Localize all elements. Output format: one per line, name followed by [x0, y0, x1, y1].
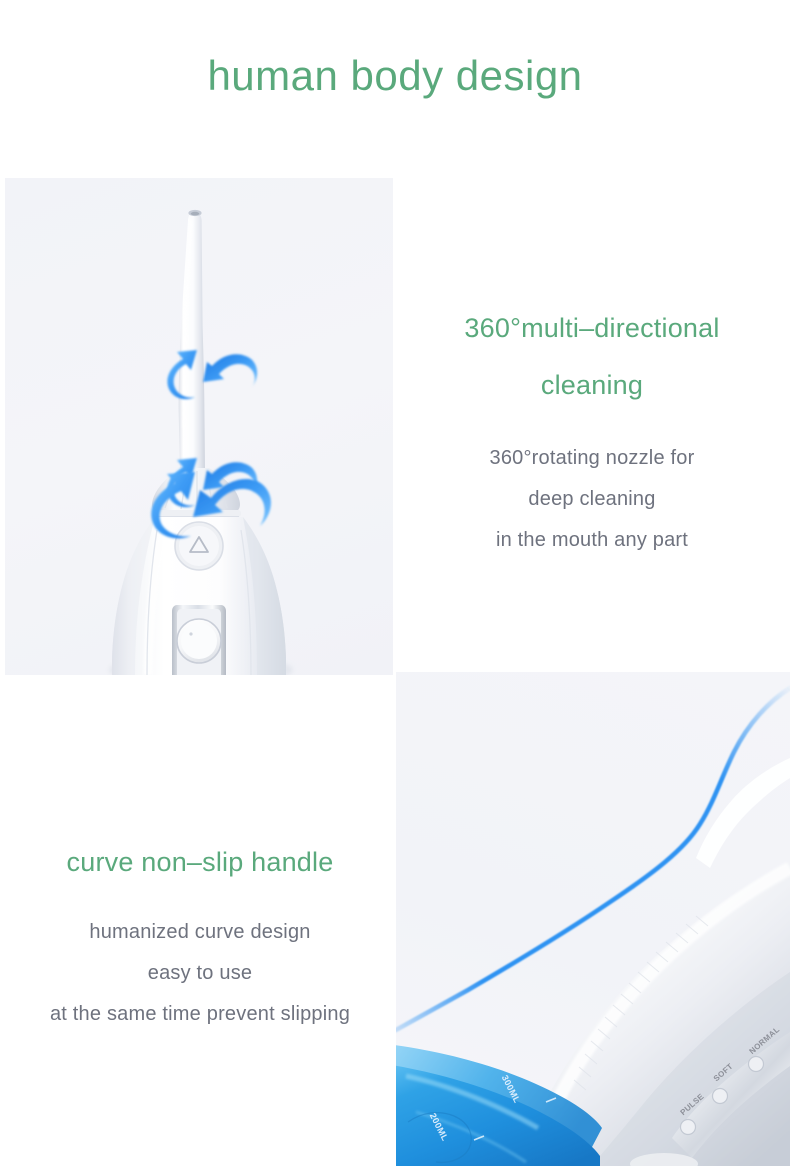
body-line: easy to use [6, 953, 394, 994]
page-title: human body design [0, 52, 790, 100]
body-line: in the mouth any part [398, 520, 786, 561]
mode-button-normal [749, 1057, 764, 1072]
product-feature-page: human body design [0, 0, 790, 1166]
feature-heading-360: 360°multi–directional cleaning [398, 300, 786, 414]
heading-line: cleaning [398, 357, 786, 414]
mode-button-pulse [681, 1120, 696, 1135]
feature-body-handle: humanized curve design easy to use at th… [6, 912, 394, 1035]
heading-line: 360°multi–directional [398, 300, 786, 357]
body-line: 360°rotating nozzle for [398, 438, 786, 479]
curved-handle-illustration [396, 672, 790, 1166]
feature-heading-handle: curve non–slip handle [10, 834, 390, 891]
mode-button-soft [713, 1089, 728, 1104]
heading-line: curve non–slip handle [10, 834, 390, 891]
body-line: humanized curve design [6, 912, 394, 953]
body-line: at the same time prevent slipping [6, 994, 394, 1035]
body-line: deep cleaning [398, 479, 786, 520]
handle-nozzle-tube [696, 758, 790, 868]
rotating-nozzle-illustration [5, 178, 393, 675]
nozzle-tip [179, 212, 205, 470]
nozzle-image-panel: ON/OFF [5, 178, 393, 675]
feature-body-360: 360°rotating nozzle for deep cleaning in… [398, 438, 786, 561]
handle-image-panel: NORMAL SOFT PULSE 300ML 200ML [396, 672, 790, 1166]
